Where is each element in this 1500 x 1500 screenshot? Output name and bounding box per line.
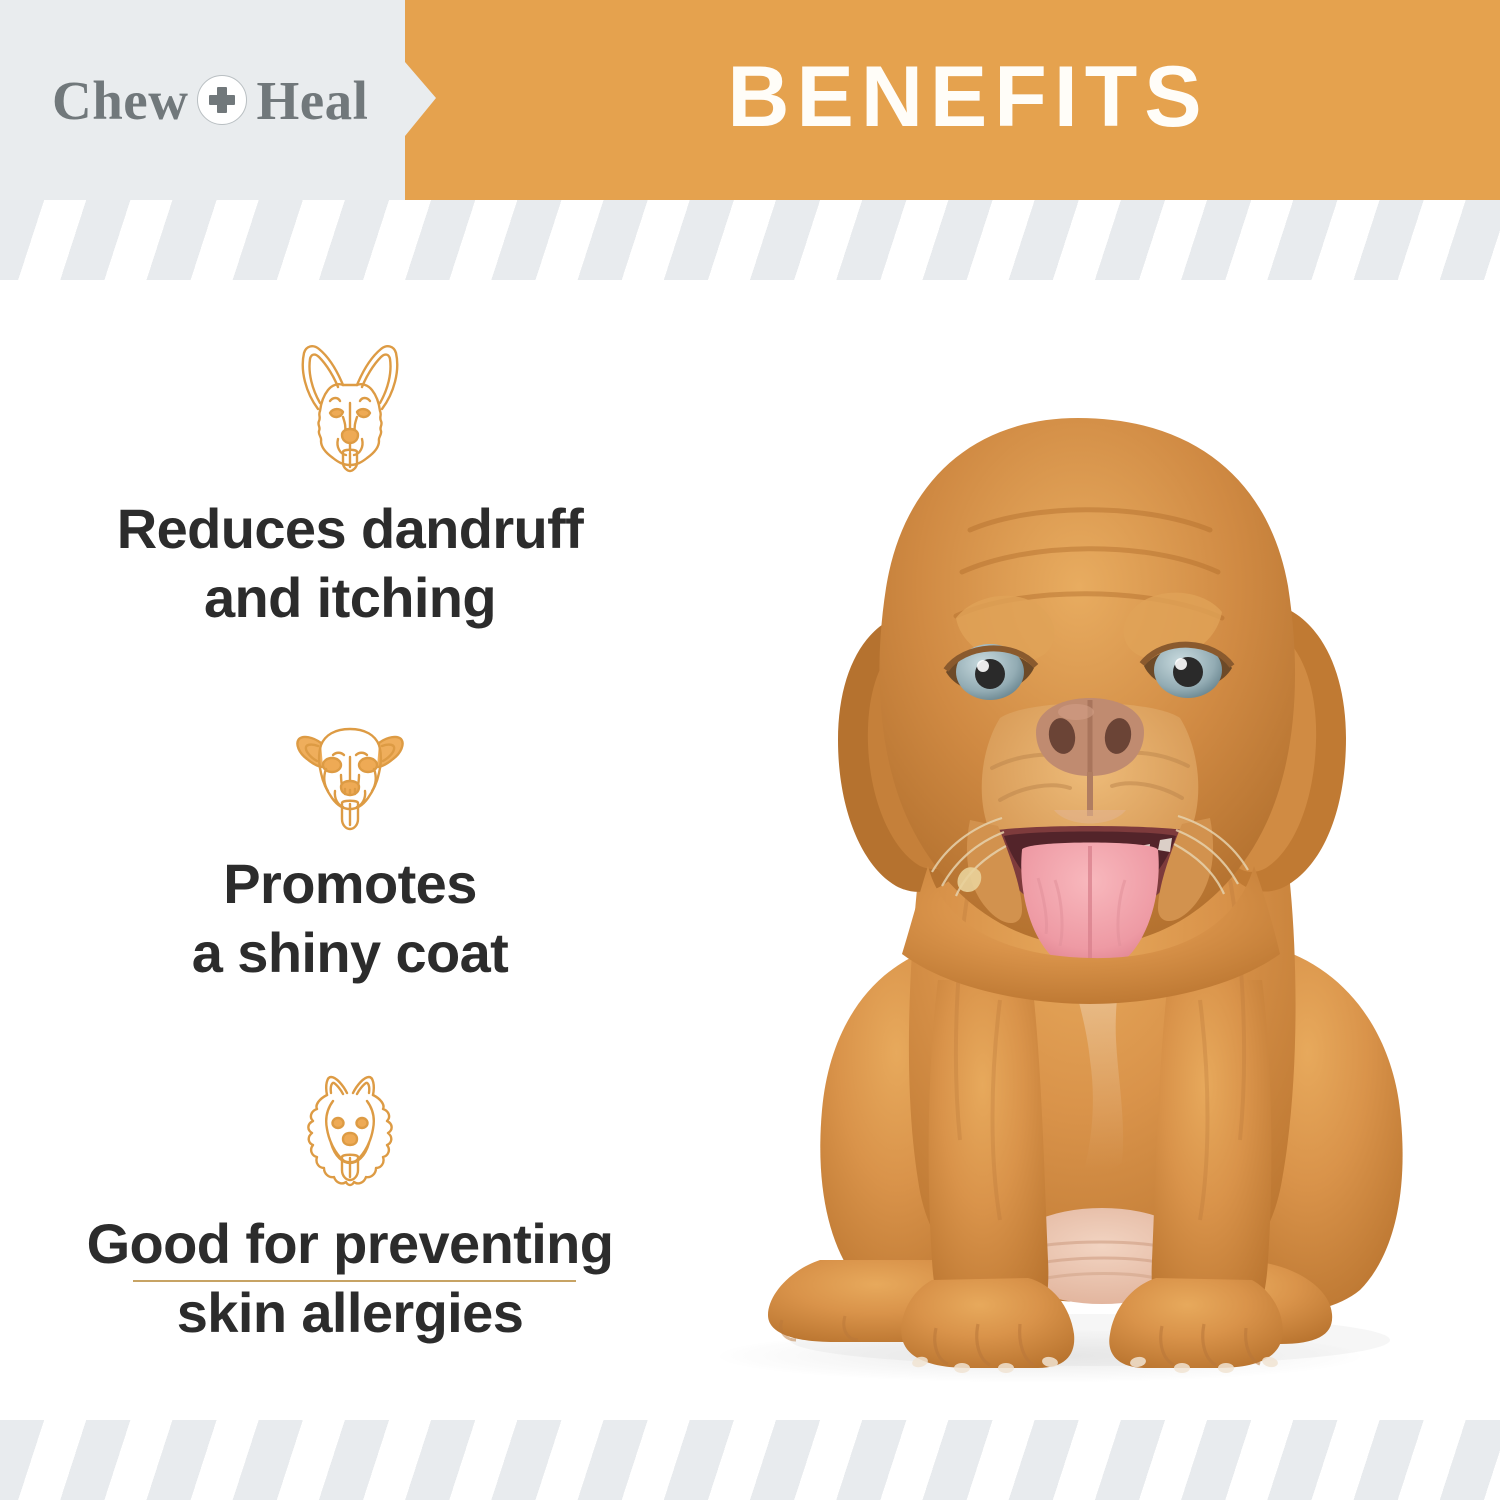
page-title: BENEFITS (436, 0, 1500, 200)
dog-face-corgi-icon (275, 330, 425, 480)
benefit-item: Good for preventing skin allergies (0, 1065, 700, 1348)
dog-face-terrier-icon (285, 705, 415, 835)
benefits-infographic: Chew Heal BENEFITS (0, 0, 1500, 1500)
stripe-band-bottom (0, 1420, 1500, 1500)
brand-logo: Chew Heal (52, 66, 368, 134)
plus-in-circle-icon (197, 75, 247, 125)
benefit-item: Promotes a shiny coat (0, 705, 700, 988)
dog-face-spitz-icon (285, 1065, 415, 1195)
page-header: Chew Heal BENEFITS (0, 0, 1500, 200)
benefit-label-line1: Reduces dandruff (20, 494, 680, 563)
benefit-label-line2: and itching (20, 563, 680, 632)
benefit-label: Good for preventing skin allergies (20, 1209, 680, 1348)
benefit-label-line2: a shiny coat (20, 918, 680, 987)
brand-name-first: Chew (52, 73, 188, 128)
dogue-de-bordeaux-puppy-photo (670, 380, 1500, 1420)
benefit-divider (133, 1280, 576, 1282)
benefits-list: Reduces dandruff and itching (0, 300, 700, 1400)
benefit-label-line2: skin allergies (20, 1278, 680, 1347)
benefit-label-line1: Promotes (20, 849, 680, 918)
benefit-label: Promotes a shiny coat (20, 849, 680, 988)
brand-name-second: Heal (256, 73, 368, 128)
benefit-item: Reduces dandruff and itching (0, 330, 700, 633)
benefit-label-line1: Good for preventing (20, 1209, 680, 1278)
benefit-label: Reduces dandruff and itching (20, 494, 680, 633)
stripe-band-top (0, 200, 1500, 280)
